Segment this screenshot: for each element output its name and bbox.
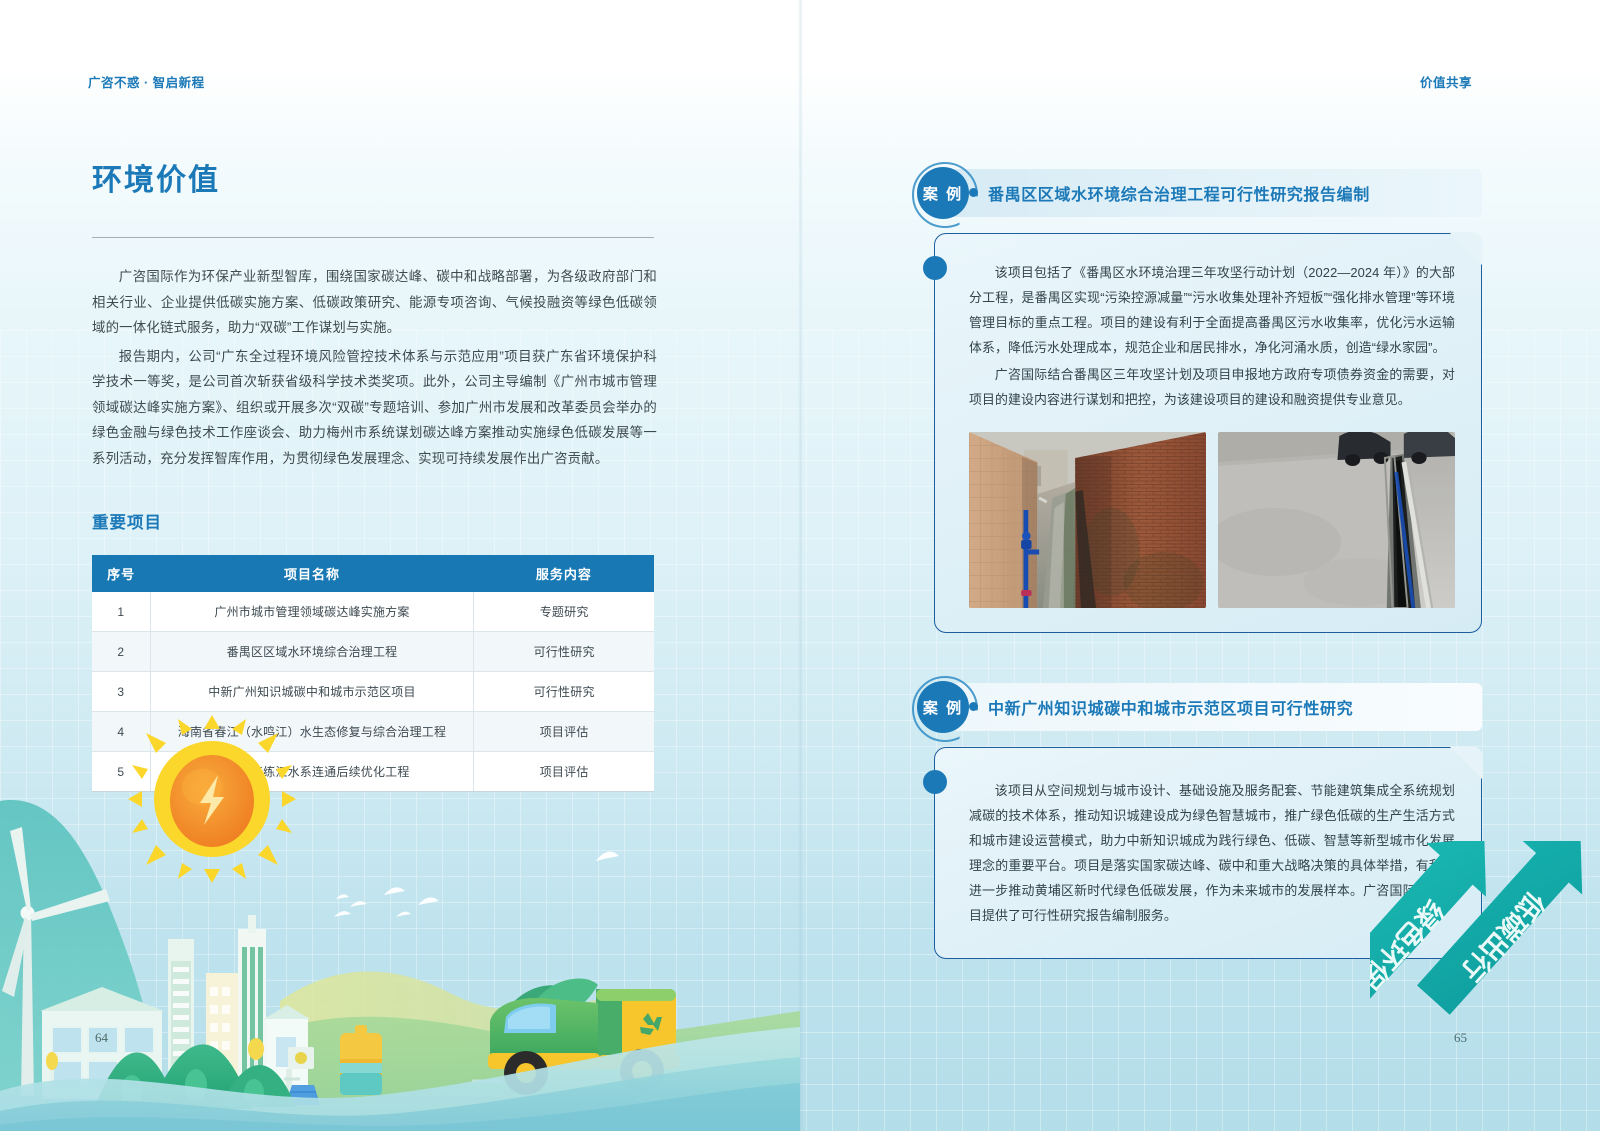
table-row: 4 海南省春江（水鸣江）水生态修复与综合治理工程 项目评估 xyxy=(92,712,654,752)
projects-table-wrapper: 序号 项目名称 服务内容 1 广州市城市管理领域碳达峰实施方案 专题研究 2 番… xyxy=(92,555,654,792)
case-2-corner-fold xyxy=(1449,746,1483,780)
case-study-1: 案 例 番禺区区域水环境综合治理工程可行性研究报告编制 该项目包括了《番禺区水环… xyxy=(912,165,1482,633)
page-number-right: 65 xyxy=(1454,1030,1467,1046)
case-badge-icon: 案 例 xyxy=(912,676,974,738)
case-1-photo-gallery xyxy=(969,432,1455,608)
case-1-paragraph-1: 该项目包括了《番禺区水环境治理三年攻坚行动计划（2022—2024 年）》的大部… xyxy=(969,260,1455,360)
title-divider xyxy=(92,237,654,238)
table-row: 1 广州市城市管理领域碳达峰实施方案 专题研究 xyxy=(92,592,654,632)
cell-service: 可行性研究 xyxy=(474,672,654,712)
table-row: 3 中新广州知识城碳中和城市示范区项目 可行性研究 xyxy=(92,672,654,712)
table-row: 5 韩江榕江练江水系连通后续优化工程 项目评估 xyxy=(92,752,654,792)
table-row: 2 番禺区区域水环境综合治理工程 可行性研究 xyxy=(92,632,654,672)
roadside-ditch-photo xyxy=(1218,432,1455,608)
projects-table: 序号 项目名称 服务内容 1 广州市城市管理领域碳达峰实施方案 专题研究 2 番… xyxy=(92,555,654,792)
case-2-header: 案 例 中新广州知识城碳中和城市示范区项目可行性研究 xyxy=(912,679,1482,735)
case-badge-icon: 案 例 xyxy=(912,162,974,224)
cell-project-name: 韩江榕江练江水系连通后续优化工程 xyxy=(150,752,474,792)
cell-project-name: 海南省春江（水鸣江）水生态修复与综合治理工程 xyxy=(150,712,474,752)
cell-index: 1 xyxy=(92,592,150,632)
column-header-project-name: 项目名称 xyxy=(150,555,474,592)
intro-paragraph-1: 广咨国际作为环保产业新型智库，围绕国家碳达峰、碳中和战略部署，为各级政府部门和相… xyxy=(92,264,657,341)
cell-index: 3 xyxy=(92,672,150,712)
cell-project-name: 广州市城市管理领域碳达峰实施方案 xyxy=(150,592,474,632)
eco-ribbon-arrows: 低碳出行 绿色环保 xyxy=(1370,841,1600,1131)
cell-service: 专题研究 xyxy=(474,592,654,632)
cell-project-name: 中新广州知识城碳中和城市示范区项目 xyxy=(150,672,474,712)
case-2-title: 中新广州知识城碳中和城市示范区项目可行性研究 xyxy=(988,695,1353,719)
cell-index: 4 xyxy=(92,712,150,752)
intro-paragraph-2: 报告期内，公司“广东全过程环境风险管控技术体系与示范应用”项目获广东省环境保护科… xyxy=(92,344,657,472)
badge-connector-dot xyxy=(969,188,978,197)
case-1-body-dot xyxy=(923,256,947,280)
case-1-body: 该项目包括了《番禺区水环境治理三年攻坚行动计划（2022—2024 年）》的大部… xyxy=(934,233,1482,633)
badge-connector-dot xyxy=(969,702,978,711)
cell-service: 项目评估 xyxy=(474,712,654,752)
header-section-label: 价值共享 xyxy=(1420,72,1472,91)
cell-project-name: 番禺区区域水环境综合治理工程 xyxy=(150,632,474,672)
page-spine xyxy=(798,0,803,1131)
column-header-service: 服务内容 xyxy=(474,555,654,592)
case-1-title: 番禺区区域水环境综合治理工程可行性研究报告编制 xyxy=(988,181,1370,205)
case-1-paragraph-2: 广咨国际结合番禺区三年攻坚计划及项目申报地方政府专项债券资金的需要，对项目的建设… xyxy=(969,362,1455,412)
cell-index: 5 xyxy=(92,752,150,792)
left-page-content: 环境价值 广咨国际作为环保产业新型智库，围绕国家碳达峰、碳中和战略部署，为各级政… xyxy=(92,155,657,792)
case-2-body-dot xyxy=(923,770,947,794)
alley-drainage-photo xyxy=(969,432,1206,608)
badge-label: 案 例 xyxy=(917,681,969,733)
column-header-index: 序号 xyxy=(92,555,150,592)
table-header-row: 序号 项目名称 服务内容 xyxy=(92,555,654,592)
case-1-header: 案 例 番禺区区域水环境综合治理工程可行性研究报告编制 xyxy=(912,165,1482,221)
table-heading: 重要项目 xyxy=(92,509,657,533)
page-title: 环境价值 xyxy=(92,155,657,199)
cell-service: 项目评估 xyxy=(474,752,654,792)
right-page-content: 案 例 番禺区区域水环境综合治理工程可行性研究报告编制 该项目包括了《番禺区水环… xyxy=(912,165,1482,959)
cell-service: 可行性研究 xyxy=(474,632,654,672)
cell-index: 2 xyxy=(92,632,150,672)
badge-label: 案 例 xyxy=(917,167,969,219)
page-number-left: 64 xyxy=(95,1030,108,1046)
header-brand-slogan: 广咨不惑 · 智启新程 xyxy=(88,72,205,91)
document-page: 广咨不惑 · 智启新程 价值共享 环境价值 广咨国际作为环保产业新型智库，围绕国… xyxy=(0,0,1600,1131)
